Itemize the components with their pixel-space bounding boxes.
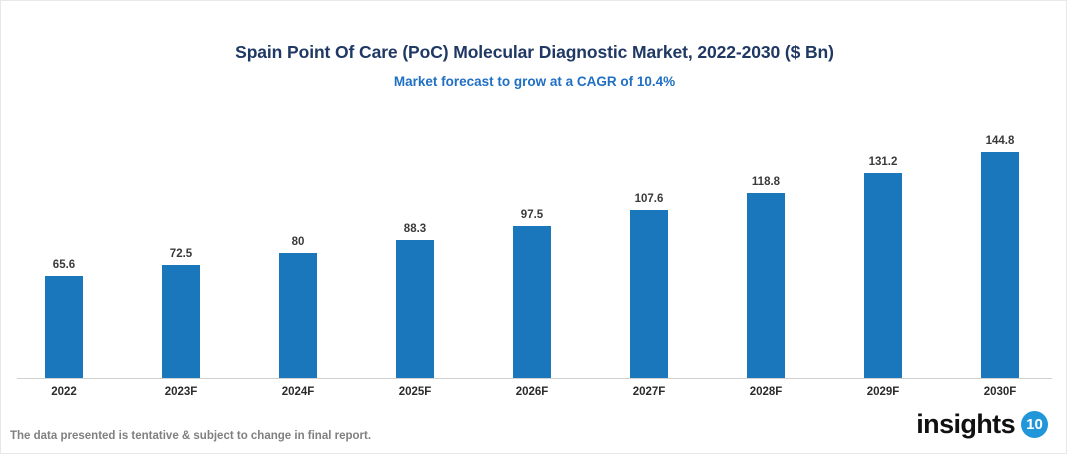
- x-axis-tick-label: 2029F: [834, 386, 932, 398]
- bar-group: 72.52023F: [162, 265, 200, 378]
- bar-value-label: 97.5: [495, 209, 569, 221]
- chart-page: Spain Point Of Care (PoC) Molecular Diag…: [0, 0, 1067, 454]
- x-axis-tick-label: 2027F: [600, 386, 698, 398]
- x-axis-line: [17, 378, 1052, 379]
- bar[interactable]: 80: [279, 253, 317, 378]
- bar-value-label: 107.6: [612, 193, 686, 205]
- logo-badge-icon: 10: [1021, 411, 1048, 438]
- x-axis-tick-label: 2024F: [249, 386, 347, 398]
- bar-group: 107.62027F: [630, 210, 668, 378]
- bar-group: 118.82028F: [747, 193, 785, 378]
- bar-value-label: 72.5: [144, 248, 218, 260]
- x-axis-tick-label: 2026F: [483, 386, 581, 398]
- x-axis-tick-label: 2030F: [951, 386, 1049, 398]
- bar[interactable]: 118.8: [747, 193, 785, 378]
- bar[interactable]: 65.6: [45, 276, 83, 378]
- bar-value-label: 131.2: [846, 156, 920, 168]
- disclaimer-text: The data presented is tentative & subjec…: [10, 430, 371, 442]
- bar[interactable]: 131.2: [864, 173, 902, 378]
- bar[interactable]: 144.8: [981, 152, 1019, 378]
- bar-value-label: 88.3: [378, 223, 452, 235]
- logo-wordmark: insights: [916, 409, 1015, 439]
- bar[interactable]: 107.6: [630, 210, 668, 378]
- x-axis-tick-label: 2023F: [132, 386, 230, 398]
- bar-value-label: 65.6: [27, 259, 101, 271]
- bar-group: 88.32025F: [396, 240, 434, 378]
- x-axis-tick-label: 2022: [15, 386, 113, 398]
- insights10-logo: insights 10: [916, 409, 1048, 439]
- bar-group: 97.52026F: [513, 226, 551, 378]
- bar-value-label: 80: [261, 236, 335, 248]
- bar-group: 802024F: [279, 253, 317, 378]
- bar[interactable]: 72.5: [162, 265, 200, 378]
- bar[interactable]: 88.3: [396, 240, 434, 378]
- x-axis-tick-label: 2028F: [717, 386, 815, 398]
- bar-value-label: 118.8: [729, 176, 803, 188]
- bar[interactable]: 97.5: [513, 226, 551, 378]
- bar-chart-plot-area: 65.6202272.52023F802024F88.32025F97.5202…: [1, 1, 1067, 454]
- x-axis-tick-label: 2025F: [366, 386, 464, 398]
- bar-group: 144.82030F: [981, 152, 1019, 378]
- bar-group: 131.22029F: [864, 173, 902, 378]
- bar-group: 65.62022: [45, 276, 83, 378]
- bar-value-label: 144.8: [963, 135, 1037, 147]
